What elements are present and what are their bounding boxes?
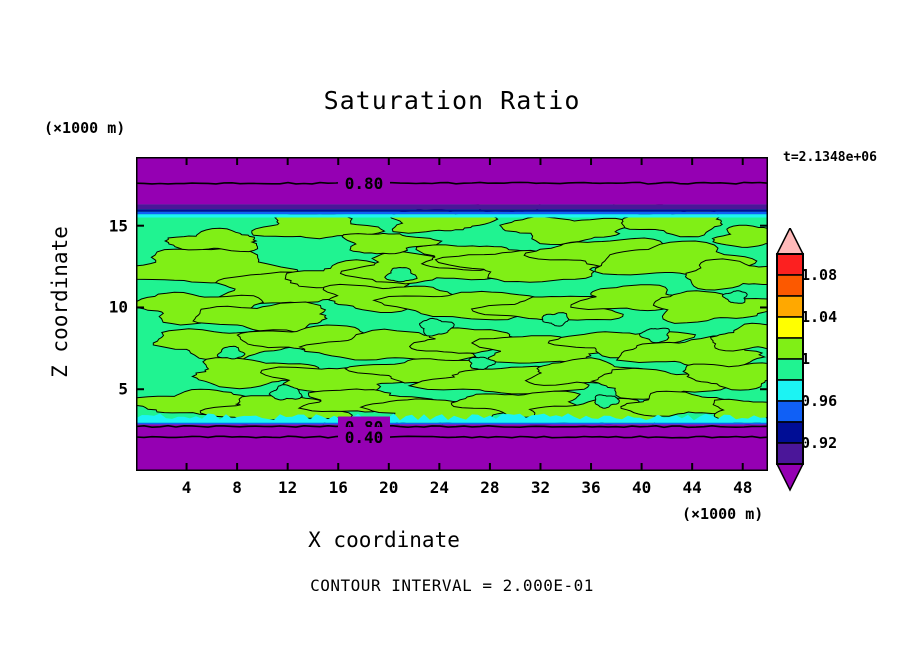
colorbar-band-1 — [777, 254, 803, 275]
colorbar-label-1: 1.04 — [801, 308, 837, 326]
x-tick-label-9: 40 — [632, 478, 651, 497]
x-tick-label-6: 28 — [480, 478, 499, 497]
z-axis-ticks: 51015 — [88, 0, 128, 654]
layer-top-blue-line — [136, 212, 768, 214]
layer-top-violet-band — [136, 204, 768, 209]
layer-top-cyan-line — [136, 214, 768, 217]
x-tick-label-5: 24 — [430, 478, 449, 497]
colorbar-label-2: 1 — [801, 350, 810, 368]
contour-label: 0.40 — [345, 428, 384, 447]
layer-top-purple-cap — [136, 157, 768, 204]
contour-interval-caption: CONTOUR INTERVAL = 2.000E-01 — [0, 576, 904, 595]
colorbar-band-6 — [777, 359, 803, 380]
colorbar-band-4 — [777, 317, 803, 338]
x-tick-label-7: 32 — [531, 478, 550, 497]
colorbar-band-3 — [777, 296, 803, 317]
layer-bot-purple-cap — [136, 424, 768, 471]
colorbar-band-5 — [777, 338, 803, 359]
x-tick-label-2: 12 — [278, 478, 297, 497]
layer-bot-blue-line — [136, 423, 768, 425]
colorbar-band-9 — [777, 422, 803, 443]
colorbar-label-3: 0.96 — [801, 392, 837, 410]
contour-field: 0.800.800.40 — [136, 157, 768, 471]
x-axis-unit: (×1000 m) — [682, 505, 763, 523]
x-tick-label-0: 4 — [182, 478, 192, 497]
colorbar-band-8 — [777, 401, 803, 422]
contour-label: 0.80 — [345, 174, 384, 193]
z-tick-label-2: 15 — [109, 216, 128, 235]
colorbar-band-2 — [777, 275, 803, 296]
z-tick-label-1: 10 — [109, 298, 128, 317]
timestamp-label: t=2.1348e+06 — [783, 150, 877, 165]
x-tick-label-11: 48 — [733, 478, 752, 497]
x-tick-label-1: 8 — [232, 478, 242, 497]
z-tick-label-0: 5 — [118, 380, 128, 399]
colorbar-label-4: 0.92 — [801, 434, 837, 452]
x-tick-label-10: 44 — [683, 478, 702, 497]
page-title: Saturation Ratio — [0, 86, 904, 115]
colorbar-cap-bottom — [777, 464, 803, 490]
x-tick-label-4: 20 — [379, 478, 398, 497]
layer-top-navy-line — [136, 209, 768, 211]
colorbar-cap-top — [777, 228, 803, 254]
x-tick-label-8: 36 — [581, 478, 600, 497]
colorbar-band-7 — [777, 380, 803, 401]
colorbar-label-0: 1.08 — [801, 266, 837, 284]
colorbar-band-10 — [777, 443, 803, 464]
colorbar: 1.081.0410.960.92 — [775, 228, 895, 518]
z-axis-title: Z coordinate — [48, 202, 72, 402]
contour-plot: 0.800.800.40 — [136, 157, 768, 471]
x-tick-label-3: 16 — [329, 478, 348, 497]
